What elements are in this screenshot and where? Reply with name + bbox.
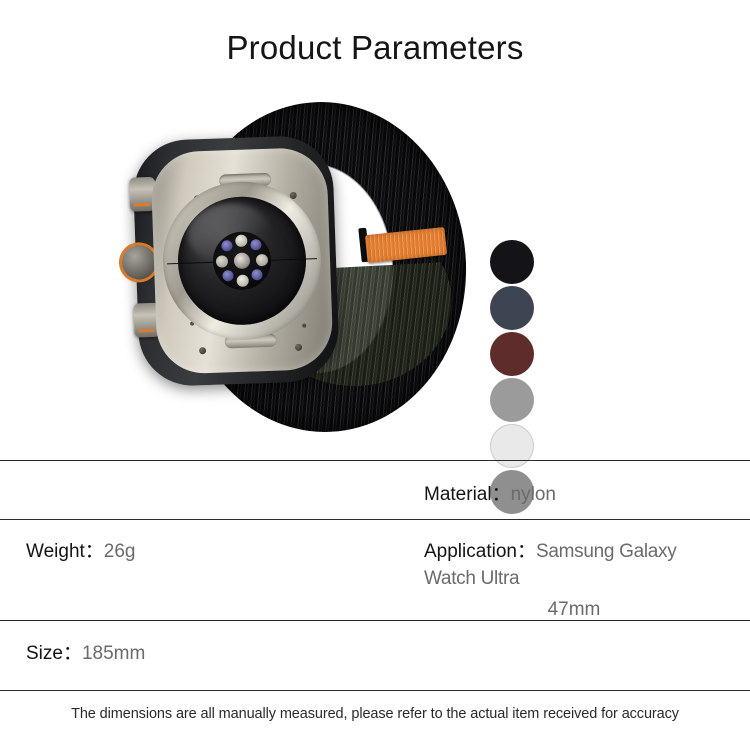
measurement-disclaimer: The dimensions are all manually measured… [0, 706, 750, 722]
watch-case-back [150, 147, 334, 375]
spec-application-value-line2: 47mm [424, 596, 724, 623]
case-screw [199, 347, 206, 354]
page-title: Product Parameters [0, 28, 750, 68]
color-swatch-medium-gray[interactable] [490, 378, 534, 422]
divider-line [0, 690, 750, 691]
spec-application: Application：Samsung Galaxy Watch Ultra 4… [424, 538, 724, 623]
spec-size: Size：185mm [26, 640, 145, 667]
spec-size-label: Size： [26, 643, 82, 664]
spec-application-label: Application： [424, 541, 536, 562]
spec-material-value: nylon [511, 484, 556, 505]
color-swatch-list [490, 240, 550, 516]
case-inner-ring [160, 179, 323, 342]
spec-material: Material：nylon [424, 481, 556, 508]
sensor-led-violet [251, 269, 262, 280]
sensor-dot-east [256, 254, 268, 266]
color-swatch-off-white[interactable] [490, 424, 534, 468]
divider-line [0, 519, 750, 520]
sensor-led-violet [221, 240, 232, 251]
sensor-dot-south [236, 275, 248, 287]
product-image-watch [128, 96, 468, 446]
sensor-dot-west [216, 255, 228, 267]
spec-weight-value: 26g [104, 541, 136, 562]
sensor-glass [176, 195, 308, 327]
side-button-accent-stripe [138, 329, 154, 333]
color-swatch-black[interactable] [490, 240, 534, 284]
sensor-led-violet [250, 239, 261, 250]
spec-material-label: Material： [424, 484, 511, 505]
watch-case [132, 135, 340, 388]
product-hero [0, 92, 750, 452]
heart-rate-sensor-cluster [212, 231, 272, 291]
color-swatch-dark-maroon[interactable] [490, 332, 534, 376]
sensor-dot-center [234, 253, 251, 270]
watch-crown [121, 245, 156, 280]
sensor-dot-north [235, 235, 247, 247]
sensor-led-violet [222, 270, 233, 281]
case-screw [295, 344, 302, 351]
divider-line [0, 460, 750, 461]
case-pin [302, 324, 306, 328]
side-button-accent-stripe [134, 203, 150, 207]
spec-weight: Weight：26g [26, 538, 136, 565]
color-swatch-navy-slate[interactable] [490, 286, 534, 330]
spec-size-value: 185mm [82, 643, 145, 664]
spec-weight-label: Weight： [26, 541, 104, 562]
